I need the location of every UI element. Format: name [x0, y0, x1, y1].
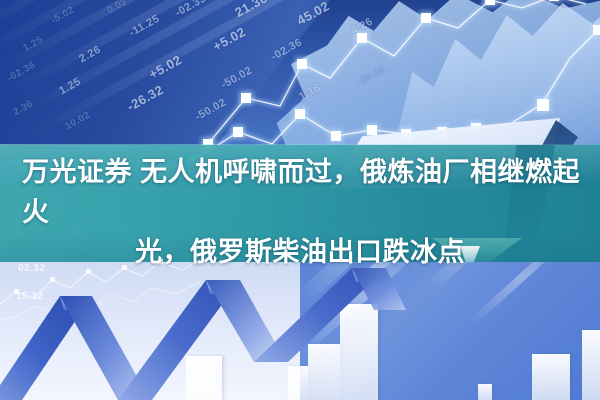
bar-column	[478, 384, 492, 400]
ticker-number: 2.26	[77, 44, 103, 66]
ticker-number: 1.16	[297, 82, 323, 104]
news-banner: 21.36 -02.35 0.03 45.02 4.26 -5.02 -11.2…	[0, 0, 600, 400]
ticker-number: +5.02	[210, 24, 248, 54]
ticker-number: 1.25	[21, 34, 45, 54]
ticker-number: -50.02	[193, 96, 228, 123]
ticker-number: -02.36	[269, 36, 304, 63]
headline-line-1: 万光证券 无人机呼啸而过，俄炼油厂相继燃起火	[14, 152, 586, 232]
ticker-number: 4.26	[349, 16, 375, 38]
ticker-number: 10.02	[63, 110, 92, 133]
ticker-number: -5.02	[49, 5, 76, 27]
ticker-number: -26.32	[124, 82, 166, 114]
ticker-number: -36.02	[355, 64, 387, 89]
ticker-number: -02.36	[5, 60, 37, 85]
zigzag-arrow-ribbon	[0, 250, 420, 400]
ticker-number: -02.35	[173, 0, 208, 19]
ticker-number: 2.36	[11, 98, 35, 118]
ticker-number: +5.02	[146, 52, 184, 82]
ticker-number: 1.25	[57, 76, 83, 98]
bar-column	[532, 354, 570, 400]
ticker-number: 21.36	[232, 0, 269, 20]
headline-line-2: 光，俄罗斯柴油出口跌冰点	[14, 232, 586, 272]
ticker-number: -11.25	[127, 13, 162, 39]
page-title: 万光证券 无人机呼啸而过，俄炼油厂相继燃起火 光，俄罗斯柴油出口跌冰点	[0, 152, 600, 272]
bar-column	[582, 330, 600, 400]
ticker-number: -50.02	[219, 64, 254, 91]
ticker-number: 45.02	[294, 0, 331, 28]
ticker-number: 0.03	[105, 0, 129, 16]
